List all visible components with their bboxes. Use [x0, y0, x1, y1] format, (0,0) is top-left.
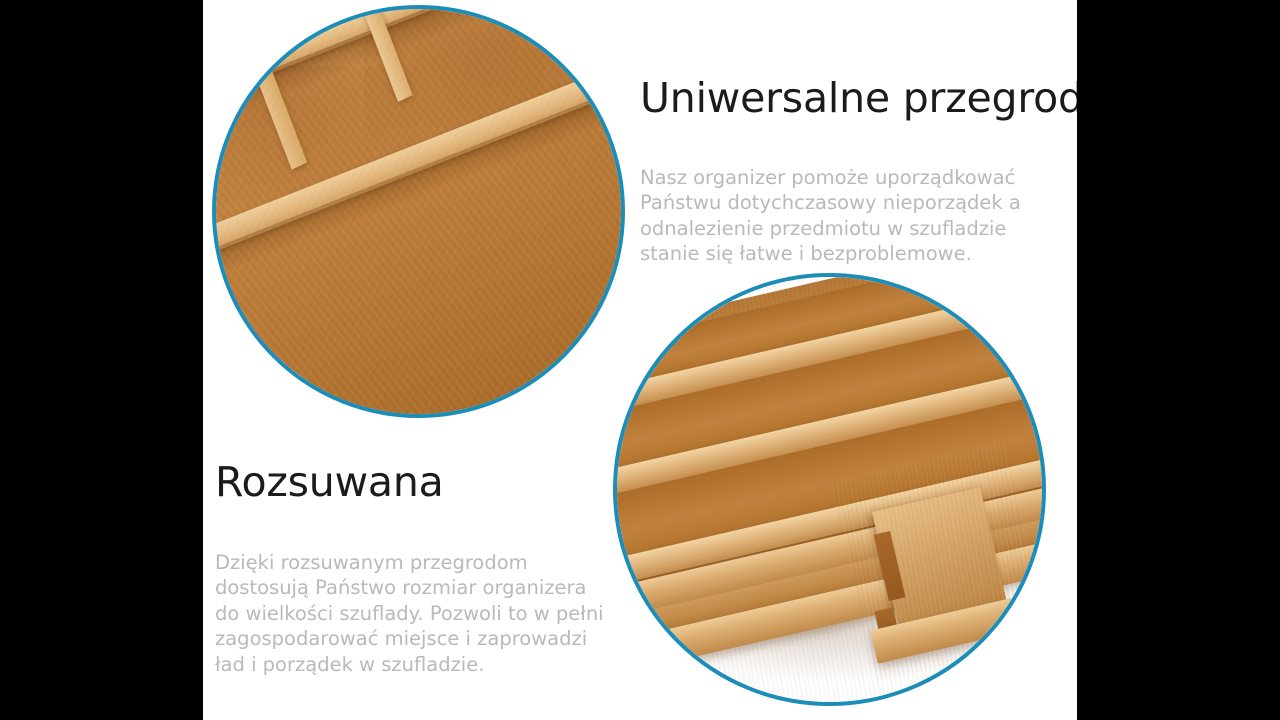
slide-canvas: Uniwersalne przegrody Nasz organizer pom…: [203, 0, 1077, 720]
bamboo-drawer-organizer-compartments-photo: [212, 5, 625, 418]
product-feature-slide: Uniwersalne przegrody Nasz organizer pom…: [0, 0, 1280, 720]
section-body-universal-dividers: Nasz organizer pomoże uporządkować Państ…: [640, 165, 1040, 267]
section-heading-universal-dividers: Uniwersalne przegrody: [640, 77, 1077, 120]
bamboo-scene-compartments: [216, 9, 621, 414]
photo-clip-top: [216, 9, 621, 414]
letterbox-bar-left: [0, 0, 203, 720]
letterbox-bar-right: [1077, 0, 1280, 720]
expandable-bamboo-tray-sliding-rail-photo: [613, 273, 1046, 706]
photo-clip-bottom: [617, 277, 1042, 702]
bamboo-scene-expandable: [617, 277, 1042, 702]
section-body-expandable: Dzięki rozsuwanym przegrodom dostosują P…: [215, 550, 605, 678]
section-heading-expandable: Rozsuwana: [215, 461, 444, 504]
